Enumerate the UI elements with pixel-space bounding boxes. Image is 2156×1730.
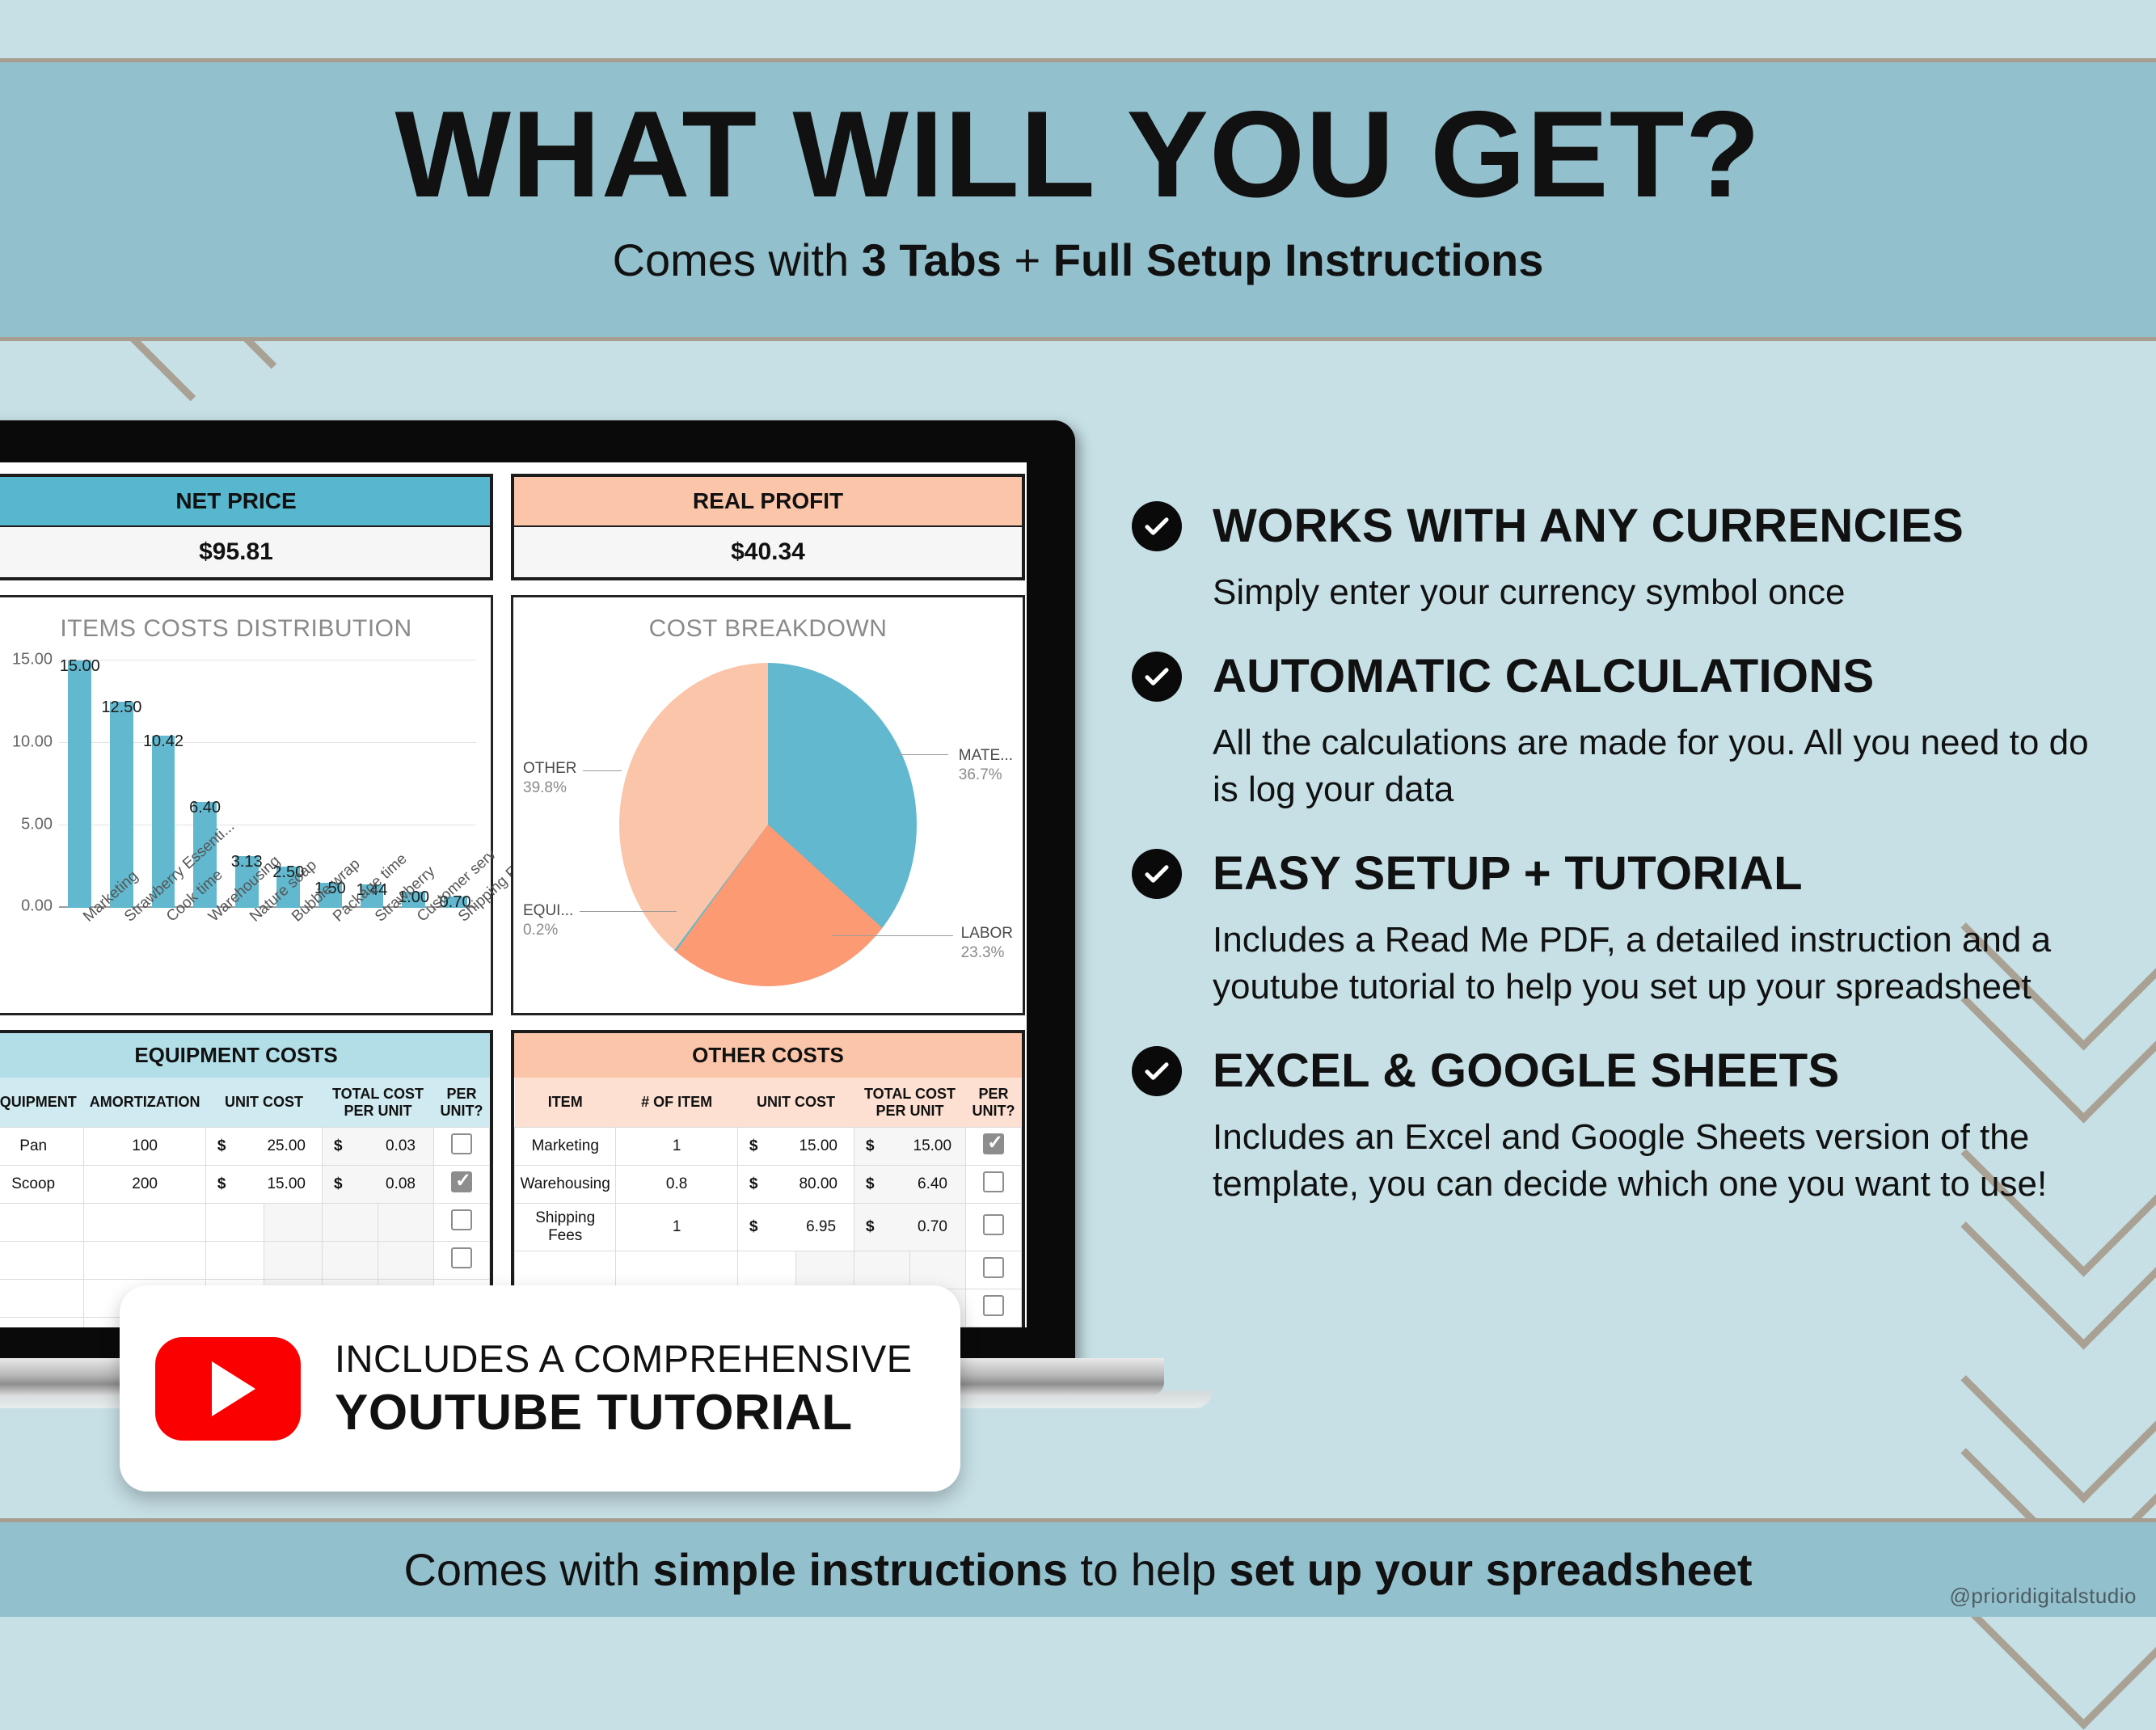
youtube-badge-line2: YOUTUBE TUTORIAL [335,1384,913,1441]
feature-item-1: WORKS WITH ANY CURRENCIESSimply enter yo… [1132,501,2102,616]
table-cell-empty [84,1204,205,1242]
per-unit-cell [965,1166,1021,1204]
bar-chart-y-tick: 10.00 [12,733,53,752]
other-costs-title: OTHER COSTS [514,1033,1022,1078]
subtitle-pre: Comes with [613,234,862,285]
per-unit-checkbox[interactable] [451,1247,472,1268]
table-cell-empty [264,1242,322,1280]
feature-description: Includes a Read Me PDF, a detailed instr… [1213,917,2102,1011]
bar-chart-x-label-wrap: Warehousing [184,909,226,1000]
bar-chart-x-label-wrap: Package time [310,909,352,1000]
table-cell-empty [795,1251,854,1289]
table-cell: 80.00 [795,1166,854,1204]
pie-label-materials: MATE... 36.7% [959,746,1013,785]
table-cell-empty [205,1204,264,1242]
table-cell: $ [854,1128,910,1166]
table-cell-empty [84,1242,205,1280]
equipment-costs-header: EQUIPMENTAMORTIZATIONUNIT COSTTOTAL COST… [0,1078,490,1128]
table-cell-empty [737,1251,795,1289]
table-cell: Marketing [515,1128,616,1166]
feature-title: EASY SETUP + TUTORIAL [1213,850,1803,897]
per-unit-cell [433,1166,489,1204]
feature-heading: EXCEL & GOOGLE SHEETS [1132,1046,2102,1096]
header-band: WHAT WILL YOU GET? Comes with 3 Tabs + F… [0,58,2156,341]
table-cell-empty [0,1280,84,1318]
table-column-header: PER UNIT? [433,1078,489,1128]
bar-chart-card: ITEMS COSTS DISTRIBUTION 0.005.0010.0015… [0,595,493,1015]
per-unit-cell [433,1242,489,1280]
bar-chart-x-labels: MarketingStrawberry Essenti...Cook timeW… [59,909,476,1000]
equipment-costs-title: EQUIPMENT COSTS [0,1033,490,1078]
equipment-costs-table: EQUIPMENT COSTS EQUIPMENTAMORTIZATIONUNI… [0,1030,493,1327]
spreadsheet-view: NET PRICE $95.81 REAL PROFIT $40.34 ITEM… [0,469,1027,1327]
table-column-header: UNIT COST [205,1078,322,1128]
footer-band: Comes with simple instructions to help s… [0,1518,2156,1617]
table-cell: 15.00 [264,1166,322,1204]
check-circle-icon [1132,501,1182,551]
table-column-header: TOTAL COST PER UNIT [854,1078,966,1128]
subtitle-bold-tabs: 3 Tabs [862,234,1002,285]
table-cell: $ [323,1128,378,1166]
pie-leader-materials [897,754,948,755]
feature-title: AUTOMATIC CALCULATIONS [1213,653,1875,700]
per-unit-cell [965,1204,1021,1251]
subtitle-mid: + [1002,234,1053,285]
feature-heading: EASY SETUP + TUTORIAL [1132,849,2102,899]
bar-chart-x-label-wrap: Bubble wrap [268,909,310,1000]
table-column-header: AMORTIZATION [84,1078,205,1128]
kpi-value-net-price: $95.81 [0,525,490,577]
table-cell: $ [854,1204,910,1251]
table-column-header: EQUIPMENT [0,1078,84,1128]
chart-row: ITEMS COSTS DISTRIBUTION 0.005.0010.0015… [0,580,1027,1015]
table-cell: 0.08 [378,1166,434,1204]
pie-leader-other [583,770,622,771]
feature-item-3: EASY SETUP + TUTORIALIncludes a Read Me … [1132,849,2102,1011]
per-unit-cell [965,1251,1021,1289]
feature-description: All the calculations are made for you. A… [1213,719,2102,813]
check-circle-icon [1132,1046,1182,1096]
studio-handle: @prioridigitalstudio [1950,1584,2137,1609]
feature-item-4: EXCEL & GOOGLE SHEETSIncludes an Excel a… [1132,1046,2102,1208]
table-cell-empty [205,1242,264,1280]
table-cell: $ [737,1166,795,1204]
bar-chart-x-label-wrap: Nature soap [226,909,268,1000]
table-header-row: EQUIPMENTAMORTIZATIONUNIT COSTTOTAL COST… [0,1078,490,1128]
feature-title: EXCEL & GOOGLE SHEETS [1213,1048,1839,1095]
per-unit-checkbox[interactable] [983,1257,1004,1278]
table-cell-empty [0,1204,84,1242]
table-cell-empty [910,1251,966,1289]
table-cell: $ [205,1128,264,1166]
bar-chart-x-label-wrap: Cook time [142,909,184,1000]
table-column-header: PER UNIT? [965,1078,1021,1128]
table-row-container: EQUIPMENT COSTS EQUIPMENTAMORTIZATIONUNI… [0,1015,1027,1327]
pie-label-equipment: EQUI... 0.2% [523,901,573,940]
bar-chart-value-label: 12.50 [101,698,141,717]
youtube-badge-text: INCLUDES A COMPREHENSIVE YOUTUBE TUTORIA… [335,1336,913,1441]
per-unit-checkbox[interactable] [451,1171,472,1192]
pie-label-labor: LABOR 23.3% [961,924,1013,963]
kpi-card-net-price: NET PRICE $95.81 [0,474,493,580]
per-unit-checkbox[interactable] [451,1209,472,1230]
kpi-label-net-price: NET PRICE [0,477,490,525]
table-cell: $ [737,1128,795,1166]
feature-title: WORKS WITH ANY CURRENCIES [1213,503,1964,550]
feature-heading: AUTOMATIC CALCULATIONS [1132,652,2102,702]
check-circle-icon [1132,652,1182,702]
table-cell: 0.70 [910,1204,966,1251]
table-cell: $ [854,1166,910,1204]
table-cell: 200 [84,1166,205,1204]
feature-description: Includes an Excel and Google Sheets vers… [1213,1114,2102,1208]
per-unit-cell [965,1289,1021,1327]
bar-chart-bar: 15.00 [68,660,91,908]
other-costs-header: ITEM# OF ITEMUNIT COSTTOTAL COST PER UNI… [515,1078,1022,1128]
feature-description: Simply enter your currency symbol once [1213,569,2102,616]
footer-pre: Comes with [403,1544,652,1595]
bar-chart-title: ITEMS COSTS DISTRIBUTION [0,597,491,643]
bar-chart-y-tick: 0.00 [21,897,53,916]
table-cell: Warehousing [515,1166,616,1204]
youtube-tutorial-badge[interactable]: INCLUDES A COMPREHENSIVE YOUTUBE TUTORIA… [120,1285,960,1492]
pie-label-other: OTHER 39.8% [523,759,577,798]
subtitle-bold-setup: Full Setup Instructions [1053,234,1544,285]
bar-chart-value-label: 6.40 [189,799,221,817]
table-cell-empty [323,1204,378,1242]
table-row-empty [0,1204,490,1242]
table-cell: 1 [616,1204,737,1251]
kpi-value-real-profit: $40.34 [514,525,1022,577]
table-header-row: ITEM# OF ITEMUNIT COSTTOTAL COST PER UNI… [515,1078,1022,1128]
table-cell-empty [854,1251,910,1289]
table-cell: $ [205,1166,264,1204]
table-cell: 0.8 [616,1166,737,1204]
bar-chart-x-label-wrap: Strawberry [351,909,393,1000]
footer-bold-instructions: simple instructions [653,1544,1068,1595]
table-cell: Scoop [0,1166,84,1204]
per-unit-checkbox[interactable] [983,1295,1004,1316]
table-column-header: TOTAL COST PER UNIT [323,1078,434,1128]
per-unit-cell [433,1128,489,1166]
pie-chart-plot: MATE... 36.7% LABOR 23.3% EQUI... [513,651,1023,998]
table-column-header: # OF ITEM [616,1078,737,1128]
footer-text: Comes with simple instructions to help s… [0,1522,2156,1596]
bar-chart-x-label-wrap: Shipping Fees [434,909,476,1000]
bar-chart-value-label: 10.42 [143,732,184,751]
table-cell-empty [264,1204,322,1242]
table-row: Pan100$25.00$0.03 [0,1128,490,1166]
kpi-row: NET PRICE $95.81 REAL PROFIT $40.34 [0,469,1027,580]
laptop-lid: NET PRICE $95.81 REAL PROFIT $40.34 ITEM… [0,420,1075,1370]
table-cell-empty [0,1318,84,1327]
footer-bold-setup: set up your spreadsheet [1229,1544,1752,1595]
table-row: Scoop200$15.00$0.08 [0,1166,490,1204]
bar-chart-bar-wrap: 12.50 [101,660,143,908]
table-cell: 15.00 [795,1128,854,1166]
kpi-card-real-profit: REAL PROFIT $40.34 [511,474,1025,580]
page-title: WHAT WILL YOU GET? [0,62,2156,216]
table-row: Warehousing0.8$80.00$6.40 [515,1166,1022,1204]
per-unit-checkbox[interactable] [983,1214,1004,1235]
pie-chart-card: COST BREAKDOWN MATE... 36.7% LABOR 23.3% [511,595,1025,1015]
bar-chart-y-tick: 15.00 [12,651,53,669]
per-unit-cell [433,1204,489,1242]
table-cell: 1 [616,1128,737,1166]
bar-chart-value-label: 15.00 [60,657,100,676]
table-row: Shipping Fees1$6.95$0.70 [515,1204,1022,1251]
feature-heading: WORKS WITH ANY CURRENCIES [1132,501,2102,551]
table-row-empty [515,1251,1022,1289]
youtube-badge-line1: INCLUDES A COMPREHENSIVE [335,1336,913,1381]
other-costs-table: OTHER COSTS ITEM# OF ITEMUNIT COSTTOTAL … [511,1030,1025,1327]
table-cell-empty [515,1251,616,1289]
bar-chart-x-label-wrap: Strawberry Essenti... [101,909,143,1000]
feature-item-2: AUTOMATIC CALCULATIONSAll the calculatio… [1132,652,2102,813]
laptop-mockup: NET PRICE $95.81 REAL PROFIT $40.34 ITEM… [0,420,1116,1403]
per-unit-cell [965,1128,1021,1166]
table-cell: $ [323,1166,378,1204]
pie-leader-equipment [580,911,677,912]
table-cell-empty [323,1242,378,1280]
table-cell: $ [737,1204,795,1251]
table-row-empty [0,1242,490,1280]
table-cell: Pan [0,1128,84,1166]
table-row: Marketing1$15.00$15.00 [515,1128,1022,1166]
table-cell: 6.40 [910,1166,966,1204]
per-unit-checkbox[interactable] [451,1133,472,1154]
youtube-play-icon [155,1337,301,1441]
table-cell-empty [0,1242,84,1280]
page-subtitle: Comes with 3 Tabs + Full Setup Instructi… [0,234,2156,286]
table-cell-empty [616,1251,737,1289]
pie-leader-labor [832,935,953,936]
bar-chart-x-label-wrap: Customer serv [393,909,435,1000]
table-cell: Shipping Fees [515,1204,616,1251]
bar-chart-y-tick: 5.00 [21,816,53,834]
table-cell-empty [378,1242,434,1280]
feature-list: WORKS WITH ANY CURRENCIESSimply enter yo… [1132,501,2102,1244]
footer-mid: to help [1068,1544,1229,1595]
table-cell-empty [378,1204,434,1242]
table-cell: 15.00 [910,1128,966,1166]
kpi-label-real-profit: REAL PROFIT [514,477,1022,525]
table-cell: 100 [84,1128,205,1166]
pie-shape [619,663,917,986]
bar-chart-x-label-wrap: Marketing [59,909,101,1000]
pie-chart-title: COST BREAKDOWN [513,597,1023,643]
per-unit-checkbox[interactable] [983,1171,1004,1192]
laptop-screen: NET PRICE $95.81 REAL PROFIT $40.34 ITEM… [0,462,1027,1327]
per-unit-checkbox[interactable] [983,1133,1004,1154]
table-column-header: ITEM [515,1078,616,1128]
table-cell: 0.03 [378,1128,434,1166]
table-column-header: UNIT COST [737,1078,854,1128]
bar-chart-bar-wrap: 15.00 [59,660,101,908]
check-circle-icon [1132,849,1182,899]
table-cell: 25.00 [264,1128,322,1166]
table-cell: 6.95 [795,1204,854,1251]
